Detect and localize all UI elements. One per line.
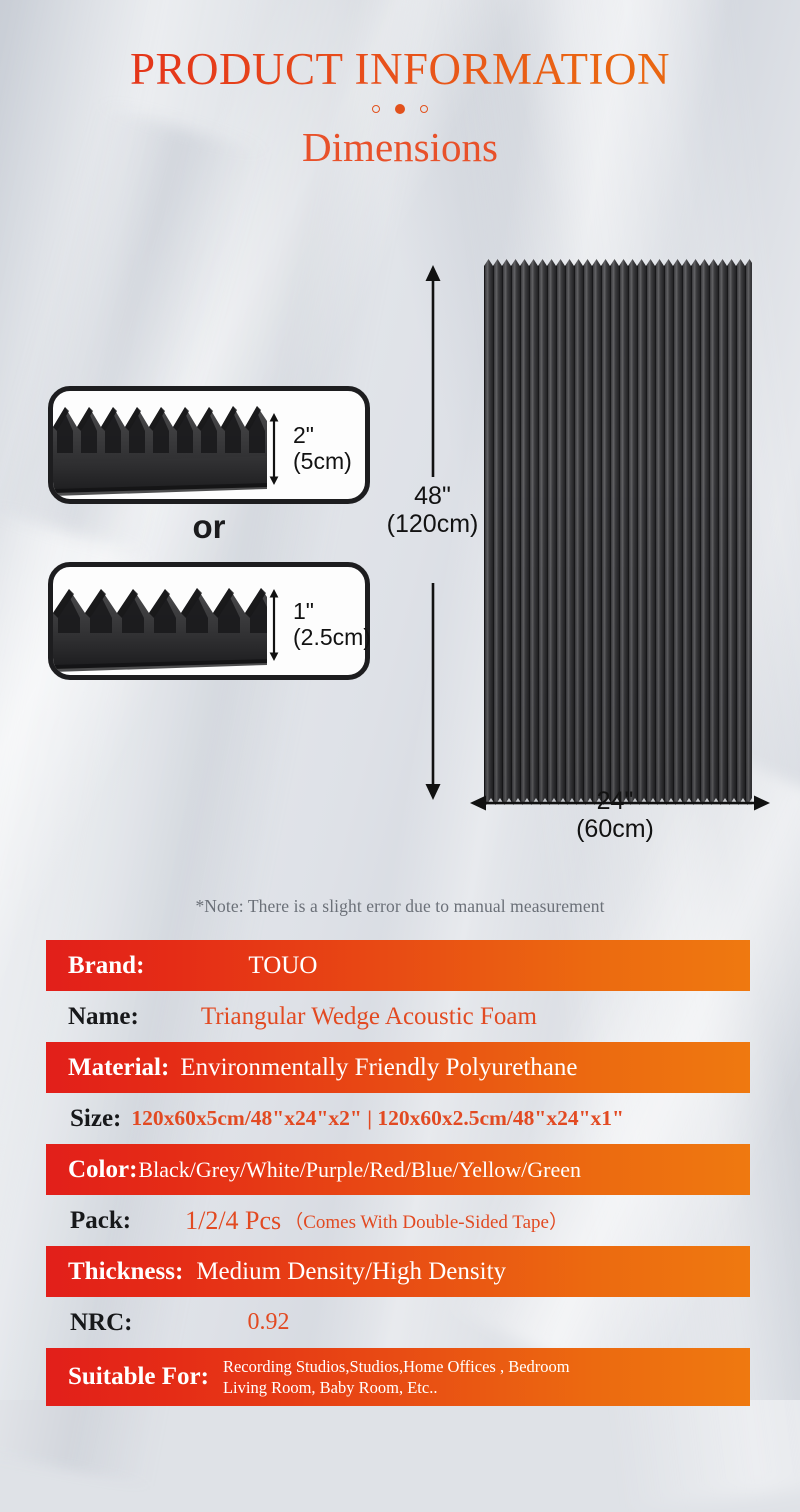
spec-value-pack: 1/2/4 Pcs bbox=[185, 1206, 281, 1236]
thickness-arrow-2in bbox=[267, 413, 281, 485]
thickness-option-card-1in: 1" (2.5cm) bbox=[48, 562, 370, 680]
spec-label-name: Name: bbox=[68, 1003, 139, 1031]
spec-note-pack: （Comes With Double-Sided Tape） bbox=[284, 1207, 568, 1234]
thickness-2in-metric: (5cm) bbox=[293, 449, 373, 475]
thickness-arrow-1in bbox=[267, 589, 281, 661]
spec-value-size: 120x60x5cm/48"x24"x2" | 120x60x2.5cm/48"… bbox=[131, 1106, 624, 1131]
spec-row-thickness: Thickness: Medium Density/High Density bbox=[46, 1246, 750, 1297]
or-separator-label: or bbox=[48, 508, 370, 546]
panel-height-metric: (120cm) bbox=[360, 510, 505, 538]
spec-label-material: Material: bbox=[68, 1054, 169, 1082]
measurement-note: *Note: There is a slight error due to ma… bbox=[0, 896, 800, 917]
panel-width-metric: (60cm) bbox=[505, 815, 725, 843]
spec-value-suitable-line2: Living Room, Baby Room, Etc.. bbox=[223, 1377, 570, 1398]
panel-width-label: 24" (60cm) bbox=[505, 787, 725, 843]
panel-width-inches: 24" bbox=[505, 787, 725, 815]
spec-value-thickness: Medium Density/High Density bbox=[196, 1258, 506, 1286]
panel-height-inches: 48" bbox=[360, 482, 505, 510]
spec-label-thickness: Thickness: bbox=[68, 1258, 183, 1286]
spec-row-suitable-for: Suitable For: Recording Studios,Studios,… bbox=[46, 1348, 750, 1406]
spec-label-brand: Brand: bbox=[68, 952, 144, 980]
panel-height-label: 48" (120cm) bbox=[360, 482, 505, 538]
spec-row-material: Material: Environmentally Friendly Polyu… bbox=[46, 1042, 750, 1093]
thickness-label-1in: 1" (2.5cm) bbox=[293, 599, 388, 651]
acoustic-foam-panel-image bbox=[484, 259, 752, 805]
spec-value-color: Black/Grey/White/Purple/Red/Blue/Yellow/… bbox=[138, 1157, 581, 1183]
dimensions-diagram: 2" (5cm) or bbox=[0, 0, 800, 880]
spec-label-pack: Pack: bbox=[70, 1207, 131, 1235]
spec-value-suitable-for: Recording Studios,Studios,Home Offices ,… bbox=[223, 1356, 570, 1399]
spec-row-nrc: NRC: 0.92 bbox=[46, 1297, 750, 1348]
spec-label-nrc: NRC: bbox=[70, 1309, 133, 1337]
spec-value-brand: TOUO bbox=[248, 952, 317, 980]
spec-row-name: Name: Triangular Wedge Acoustic Foam bbox=[46, 991, 750, 1042]
spec-value-material: Environmentally Friendly Polyurethane bbox=[180, 1054, 577, 1082]
spec-row-color: Color: Black/Grey/White/Purple/Red/Blue/… bbox=[46, 1144, 750, 1195]
thickness-2in-inches: 2" bbox=[293, 423, 373, 449]
foam-wedge-profile-2in-image bbox=[53, 401, 273, 499]
spec-value-nrc: 0.92 bbox=[248, 1309, 290, 1336]
thickness-1in-inches: 1" bbox=[293, 599, 388, 625]
spec-value-suitable-line1: Recording Studios,Studios,Home Offices ,… bbox=[223, 1356, 570, 1377]
thickness-label-2in: 2" (5cm) bbox=[293, 423, 373, 475]
spec-label-suitable-for: Suitable For: bbox=[68, 1363, 209, 1391]
thickness-1in-metric: (2.5cm) bbox=[293, 625, 388, 651]
thickness-option-card-2in: 2" (5cm) bbox=[48, 386, 370, 504]
spec-row-size: Size: 120x60x5cm/48"x24"x2" | 120x60x2.5… bbox=[46, 1093, 750, 1144]
spec-value-name: Triangular Wedge Acoustic Foam bbox=[201, 1003, 537, 1031]
foam-wedge-profile-1in-image bbox=[53, 583, 273, 675]
spec-label-size: Size: bbox=[70, 1105, 121, 1133]
spec-row-pack: Pack: 1/2/4 Pcs （Comes With Double-Sided… bbox=[46, 1195, 750, 1246]
spec-label-color: Color: bbox=[68, 1156, 137, 1184]
specification-table: Brand: TOUO Name: Triangular Wedge Acous… bbox=[46, 940, 750, 1406]
spec-row-brand: Brand: TOUO bbox=[46, 940, 750, 991]
